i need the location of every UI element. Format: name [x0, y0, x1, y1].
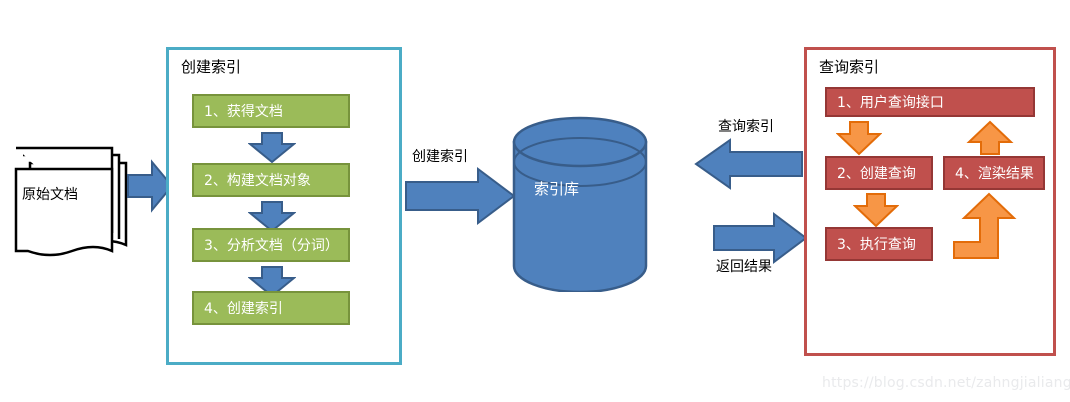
arrow-label-query-index: 查询索引 — [718, 116, 774, 136]
watermark-text: https://blog.csdn.net/zahngjialiang — [822, 375, 1070, 391]
source-documents-stack: 原始文档 — [8, 145, 138, 260]
source-documents-label: 原始文档 — [22, 184, 78, 204]
index-store-cylinder: 索引库 — [512, 116, 648, 292]
arrow-create-index — [404, 166, 516, 230]
arrow-query-4-to-1 — [966, 120, 1014, 160]
step-index-1[interactable]: 1、获得文档 — [192, 94, 350, 128]
arrow-query-1-to-2 — [836, 120, 882, 160]
step-index-4[interactable]: 4、创建索引 — [192, 291, 350, 325]
arrow-query-index — [694, 138, 804, 194]
step-index-2[interactable]: 2、构建文档对象 — [192, 163, 350, 197]
arrow-label-return-result: 返回结果 — [716, 256, 772, 276]
step-query-2[interactable]: 2、创建查询 — [825, 156, 933, 190]
step-query-1[interactable]: 1、用户查询接口 — [825, 87, 1035, 117]
step-index-3[interactable]: 3、分析文档（分词） — [192, 228, 350, 262]
database-cylinder-icon — [512, 116, 648, 292]
step-query-3[interactable]: 3、执行查询 — [825, 227, 933, 261]
index-store-label: 索引库 — [534, 178, 579, 199]
arrow-query-3-to-4 — [952, 192, 1018, 264]
panel-create-index-title: 创建索引 — [181, 56, 241, 77]
diagram-canvas: 原始文档 创建索引 1、获得文档 2、构建文档对象 3、分析文档（分词） 4、创… — [0, 0, 1070, 402]
arrow-query-2-to-3 — [853, 192, 899, 232]
panel-query-index-title: 查询索引 — [819, 56, 879, 77]
step-query-4[interactable]: 4、渲染结果 — [943, 156, 1045, 190]
arrow-label-create-index: 创建索引 — [412, 146, 468, 166]
